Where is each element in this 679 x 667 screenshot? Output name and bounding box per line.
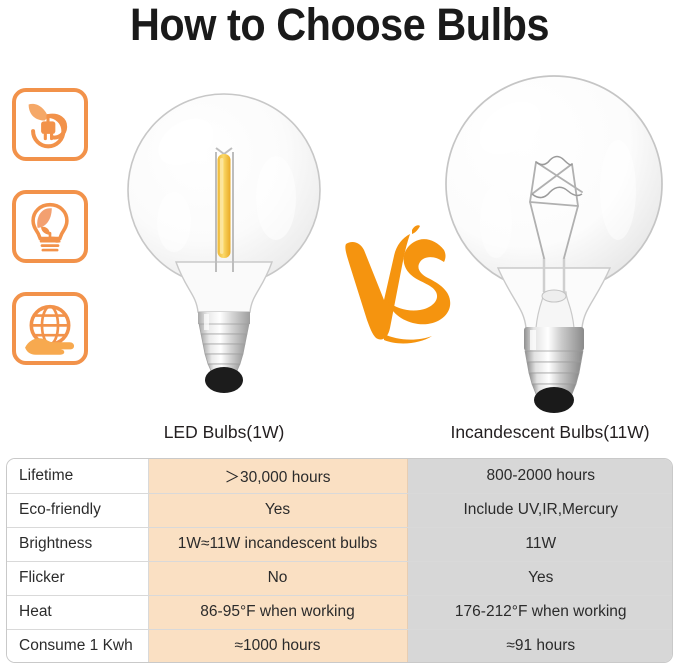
eco-plug-icon — [12, 88, 88, 161]
incandescent-value-cell: 176-212°F when working — [407, 595, 673, 629]
table-row: Lifetime＞30,000 hours800-2000 hours — [7, 459, 673, 493]
feature-cell: Consume 1 Kwh — [7, 629, 148, 663]
led-bulb-caption: LED Bulbs(1W) — [104, 421, 344, 443]
incandescent-value-cell: Include UV,IR,Mercury — [407, 493, 673, 527]
vs-badge — [340, 222, 458, 350]
comparison-table: Lifetime＞30,000 hours800-2000 hoursEco-f… — [6, 458, 673, 663]
table-row: Consume 1 Kwh≈1000 hours≈91 hours — [7, 629, 673, 663]
incandescent-value-cell: Yes — [407, 561, 673, 595]
led-value-cell: ＞30,000 hours — [148, 459, 407, 493]
led-bulb-image — [104, 80, 344, 425]
incandescent-bulb-caption: Incandescent Bulbs(11W) — [420, 421, 679, 443]
comparison-table-grid: Lifetime＞30,000 hours800-2000 hoursEco-f… — [7, 459, 673, 663]
led-value-cell: 86-95°F when working — [148, 595, 407, 629]
incandescent-value-cell: 800-2000 hours — [407, 459, 673, 493]
feature-cell: Flicker — [7, 561, 148, 595]
incandescent-value-cell: ≈91 hours — [407, 629, 673, 663]
led-value-cell: 1W≈11W incandescent bulbs — [148, 527, 407, 561]
feature-cell: Heat — [7, 595, 148, 629]
table-row: Eco-friendlyYesInclude UV,IR,Mercury — [7, 493, 673, 527]
globe-hand-icon — [12, 292, 88, 365]
table-row: FlickerNoYes — [7, 561, 673, 595]
feature-cell: Eco-friendly — [7, 493, 148, 527]
led-value-cell: ≈1000 hours — [148, 629, 407, 663]
led-value-cell: No — [148, 561, 407, 595]
feature-cell: Lifetime — [7, 459, 148, 493]
incandescent-value-cell: 11W — [407, 527, 673, 561]
led-value-cell: Yes — [148, 493, 407, 527]
table-row: Brightness1W≈11W incandescent bulbs11W — [7, 527, 673, 561]
table-row: Heat86-95°F when working176-212°F when w… — [7, 595, 673, 629]
page-title: How to Choose Bulbs — [27, 0, 652, 50]
eco-bulb-icon — [12, 190, 88, 263]
feature-cell: Brightness — [7, 527, 148, 561]
incandescent-bulb-image — [432, 62, 677, 422]
